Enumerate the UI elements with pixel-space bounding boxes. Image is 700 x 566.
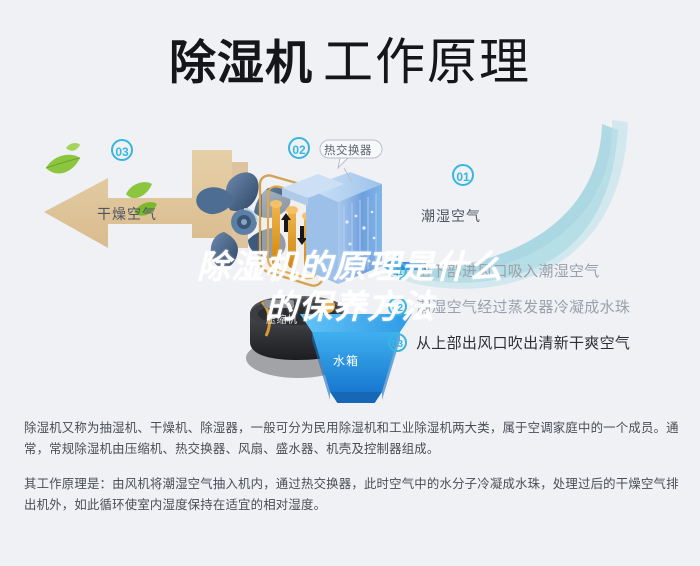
body-paragraph-2: 其工作原理是：由风机将潮湿空气抽入机内，通过热交换器，此时空气中的水分子冷凝成水… xyxy=(24,474,680,516)
page-title-bold: 除湿机 xyxy=(169,36,313,89)
callout-number-02: 02 xyxy=(288,137,310,159)
page-title-light: 工作原理 xyxy=(323,34,531,90)
step-item-01: 01 由下部进风口吸入潮湿空气 xyxy=(388,252,688,288)
step-badge-01: 01 xyxy=(388,261,407,280)
callout-label-heat-exchanger: 热交换器 xyxy=(324,142,372,158)
step-text-03: 从上部出风口吹出清新干爽空气 xyxy=(416,332,630,353)
page-title: 除湿机工作原理 xyxy=(0,22,700,94)
callout-number-01: 01 xyxy=(452,164,474,186)
step-text-01: 由下部进风口吸入潮湿空气 xyxy=(416,260,600,281)
paragraph-spacer xyxy=(24,460,680,474)
step-item-03: 03 从上部出风口吹出清新干爽空气 xyxy=(388,324,688,360)
part-label-water-tank: 水箱 xyxy=(333,352,359,369)
body-paragraph-1: 除湿机又称为抽湿机、干燥机、除湿器，一般可分为民用除湿机和工业除湿机两大类，属于… xyxy=(24,418,680,460)
step-list: 01 由下部进风口吸入潮湿空气 02 潮湿空气经过蒸发器冷凝成水珠 03 从上部… xyxy=(388,252,688,360)
step-badge-03: 03 xyxy=(388,333,407,352)
body-copy: 除湿机又称为抽湿机、干燥机、除湿器，一般可分为民用除湿机和工业除湿机两大类，属于… xyxy=(24,418,680,516)
step-text-02: 潮湿空气经过蒸发器冷凝成水珠 xyxy=(416,296,630,317)
callout-label-dry-air: 干燥空气 xyxy=(97,204,157,224)
callout-number-03: 03 xyxy=(111,139,133,161)
callout-label-humid-air: 潮湿空气 xyxy=(421,206,481,226)
part-label-compressor: 压缩机 xyxy=(266,311,298,326)
step-item-02: 02 潮湿空气经过蒸发器冷凝成水珠 xyxy=(388,288,688,324)
step-badge-02: 02 xyxy=(388,297,407,316)
